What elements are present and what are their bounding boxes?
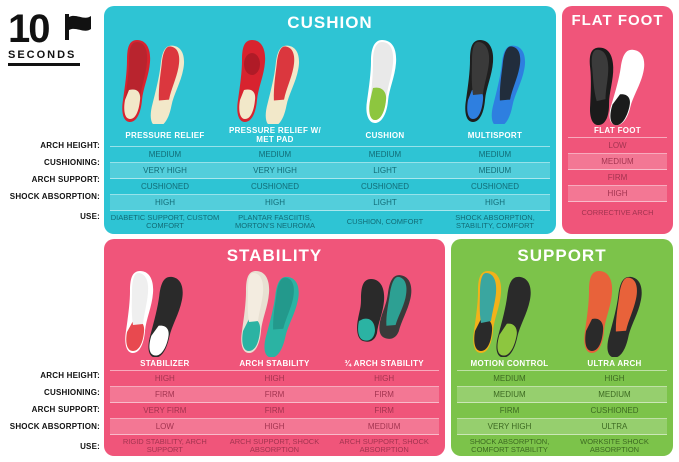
cell-arch-support-3: CUSHIONED	[330, 179, 440, 195]
row-label-arch-height-2: ARCH HEIGHT:	[0, 371, 100, 380]
col-head-three-quarter-arch-stability: ¾ ARCH STABILITY	[329, 359, 439, 371]
insole-ultra-arch	[562, 265, 673, 357]
cell-st-use-1: RIGID STABILITY, ARCH SUPPORT	[110, 435, 220, 458]
flat-foot-insole-art	[562, 42, 673, 126]
panel-support-title: SUPPORT	[451, 239, 673, 266]
panel-flat-foot: FLAT FOOT FLAT FOOT	[562, 6, 673, 234]
cell-st-arch-height-3: HIGH	[329, 371, 439, 387]
cell-use-2: PLANTAR FASCIITIS, MORTON'S NEUROMA	[220, 211, 330, 234]
cell-st-arch-support-2: FIRM	[220, 403, 330, 419]
insole-three-quarter-arch-stability	[331, 265, 445, 357]
support-table: MOTION CONTROL ULTRA ARCH MEDIUM HIGH ME…	[457, 359, 667, 457]
cushion-column-headers: PRESSURE RELIEF PRESSURE RELIEF W/ MET P…	[110, 126, 550, 147]
table-row: HIGH HIGH LIGHT HIGH	[110, 195, 550, 211]
cell-sp-arch-height-2: HIGH	[562, 371, 667, 387]
table-row: MEDIUM	[568, 154, 667, 170]
table-row: SHOCK ABSORPTION, COMFORT STABILITY WORK…	[457, 435, 667, 458]
table-row: VERY HIGH VERY HIGH LIGHT MEDIUM	[110, 163, 550, 179]
cell-ff-arch-support: FIRM	[568, 170, 667, 186]
insole-flat-foot	[562, 42, 673, 126]
table-row: FIRM FIRM FIRM	[110, 387, 439, 403]
cell-shock-3: LIGHT	[330, 195, 440, 211]
insole-multisport	[443, 34, 556, 124]
table-row: HIGH HIGH HIGH	[110, 371, 439, 387]
cell-sp-arch-support-1: FIRM	[457, 403, 562, 419]
col-head-ultra-arch: ULTRA ARCH	[562, 359, 667, 371]
table-row: HIGH	[568, 186, 667, 202]
col-head-pressure-relief: PRESSURE RELIEF	[110, 126, 220, 147]
cell-use-1: DIABETIC SUPPORT, CUSTOM COMFORT	[110, 211, 220, 234]
insole-selection-chart: 10 SECONDS ARCH HEIGHT: CUSHIONING: ARCH…	[0, 0, 679, 462]
insole-motion-control	[451, 265, 562, 357]
insole-pressure-relief	[104, 34, 217, 124]
col-head-cushion: CUSHION	[330, 126, 440, 147]
table-row: VERY FIRM FIRM FIRM	[110, 403, 439, 419]
cell-st-cushioning-2: FIRM	[220, 387, 330, 403]
table-row: VERY HIGH ULTRA	[457, 419, 667, 435]
cell-cushioning-3: LIGHT	[330, 163, 440, 179]
row-label-cushioning: CUSHIONING:	[0, 158, 100, 167]
cell-sp-arch-height-1: MEDIUM	[457, 371, 562, 387]
cell-arch-height-1: MEDIUM	[110, 147, 220, 163]
insole-cushion	[330, 34, 443, 124]
panel-cushion: CUSHION	[104, 6, 556, 234]
row-label-shock-absorption-2: SHOCK ABSORPTION:	[0, 422, 100, 431]
cell-sp-shock-1: VERY HIGH	[457, 419, 562, 435]
stability-insole-art	[104, 265, 445, 357]
row-label-arch-support: ARCH SUPPORT:	[0, 175, 100, 184]
cell-sp-use-2: WORKSITE SHOCK ABSORPTION	[562, 435, 667, 458]
table-row: LOW HIGH MEDIUM	[110, 419, 439, 435]
cushion-table: PRESSURE RELIEF PRESSURE RELIEF W/ MET P…	[110, 126, 550, 233]
cell-arch-height-3: MEDIUM	[330, 147, 440, 163]
table-row: FIRM CUSHIONED	[457, 403, 667, 419]
col-head-multisport: MULTISPORT	[440, 126, 550, 147]
stability-table: STABILIZER ARCH STABILITY ¾ ARCH STABILI…	[110, 359, 439, 457]
table-row: FIRM	[568, 170, 667, 186]
col-head-motion-control: MOTION CONTROL	[457, 359, 562, 371]
table-row: CORRECTIVE ARCH	[568, 202, 667, 225]
cell-arch-height-4: MEDIUM	[440, 147, 550, 163]
cell-st-cushioning-1: FIRM	[110, 387, 220, 403]
panel-stability: STABILITY	[104, 239, 445, 456]
logo-seconds: SECONDS	[8, 49, 94, 61]
support-insole-art	[451, 265, 673, 357]
col-head-arch-stability: ARCH STABILITY	[220, 359, 330, 371]
row-label-use-2: USE:	[0, 442, 100, 451]
cell-st-shock-2: HIGH	[220, 419, 330, 435]
cell-st-shock-3: MEDIUM	[329, 419, 439, 435]
table-row: CUSHIONED CUSHIONED CUSHIONED CUSHIONED	[110, 179, 550, 195]
table-row: DIABETIC SUPPORT, CUSTOM COMFORT PLANTAR…	[110, 211, 550, 234]
table-row: LOW	[568, 138, 667, 154]
panel-cushion-title: CUSHION	[104, 6, 556, 33]
insole-pressure-relief-met-pad	[217, 34, 330, 124]
cell-st-arch-height-1: HIGH	[110, 371, 220, 387]
panel-flat-foot-title: FLAT FOOT	[562, 6, 673, 29]
cell-cushioning-2: VERY HIGH	[220, 163, 330, 179]
insole-arch-stability	[218, 265, 332, 357]
cell-cushioning-1: VERY HIGH	[110, 163, 220, 179]
table-row: MEDIUM HIGH	[457, 371, 667, 387]
cell-st-use-3: ARCH SUPPORT, SHOCK ABSORPTION	[329, 435, 439, 458]
cushion-insole-art	[104, 34, 556, 124]
col-head-flat-foot: FLAT FOOT	[568, 126, 667, 138]
logo-bar	[8, 63, 80, 66]
cell-arch-height-2: MEDIUM	[220, 147, 330, 163]
cell-sp-shock-2: ULTRA	[562, 419, 667, 435]
brand-logo: 10 SECONDS	[8, 10, 94, 82]
cell-shock-1: HIGH	[110, 195, 220, 211]
cell-st-arch-height-2: HIGH	[220, 371, 330, 387]
row-label-cushioning-2: CUSHIONING:	[0, 388, 100, 397]
row-label-shock-absorption: SHOCK ABSORPTION:	[0, 192, 100, 201]
cell-st-use-2: ARCH SUPPORT, SHOCK ABSORPTION	[220, 435, 330, 458]
cell-ff-shock: HIGH	[568, 186, 667, 202]
panel-support: SUPPORT	[451, 239, 673, 456]
cell-sp-cushioning-1: MEDIUM	[457, 387, 562, 403]
row-label-use: USE:	[0, 212, 100, 221]
table-row: MEDIUM MEDIUM MEDIUM MEDIUM	[110, 147, 550, 163]
cell-shock-2: HIGH	[220, 195, 330, 211]
support-column-headers: MOTION CONTROL ULTRA ARCH	[457, 359, 667, 371]
cell-arch-support-1: CUSHIONED	[110, 179, 220, 195]
cell-ff-cushioning: MEDIUM	[568, 154, 667, 170]
cell-st-shock-1: LOW	[110, 419, 220, 435]
panel-stability-title: STABILITY	[104, 239, 445, 266]
cell-cushioning-4: MEDIUM	[440, 163, 550, 179]
flat-foot-column-headers: FLAT FOOT	[568, 126, 667, 138]
insole-stabilizer	[104, 265, 218, 357]
row-label-arch-support-2: ARCH SUPPORT:	[0, 405, 100, 414]
table-row: RIGID STABILITY, ARCH SUPPORT ARCH SUPPO…	[110, 435, 439, 458]
flat-foot-table: FLAT FOOT LOW MEDIUM FIRM HIGH CORRECTIV…	[568, 126, 667, 224]
cell-ff-arch-height: LOW	[568, 138, 667, 154]
col-head-pressure-relief-metpad: PRESSURE RELIEF W/ MET PAD	[220, 126, 330, 147]
cell-st-arch-support-1: VERY FIRM	[110, 403, 220, 419]
cell-st-arch-support-3: FIRM	[329, 403, 439, 419]
flag-icon	[62, 14, 92, 40]
cell-use-4: SHOCK ABSORPTION, STABILITY, COMFORT	[440, 211, 550, 234]
row-label-arch-height: ARCH HEIGHT:	[0, 141, 100, 150]
cell-arch-support-2: CUSHIONED	[220, 179, 330, 195]
cell-sp-cushioning-2: MEDIUM	[562, 387, 667, 403]
cell-use-3: CUSHION, COMFORT	[330, 211, 440, 234]
col-head-stabilizer: STABILIZER	[110, 359, 220, 371]
table-row: MEDIUM MEDIUM	[457, 387, 667, 403]
cell-shock-4: HIGH	[440, 195, 550, 211]
cell-st-cushioning-3: FIRM	[329, 387, 439, 403]
cell-sp-use-1: SHOCK ABSORPTION, COMFORT STABILITY	[457, 435, 562, 458]
cell-ff-use: CORRECTIVE ARCH	[568, 202, 667, 225]
cell-arch-support-4: CUSHIONED	[440, 179, 550, 195]
stability-column-headers: STABILIZER ARCH STABILITY ¾ ARCH STABILI…	[110, 359, 439, 371]
cell-sp-arch-support-2: CUSHIONED	[562, 403, 667, 419]
